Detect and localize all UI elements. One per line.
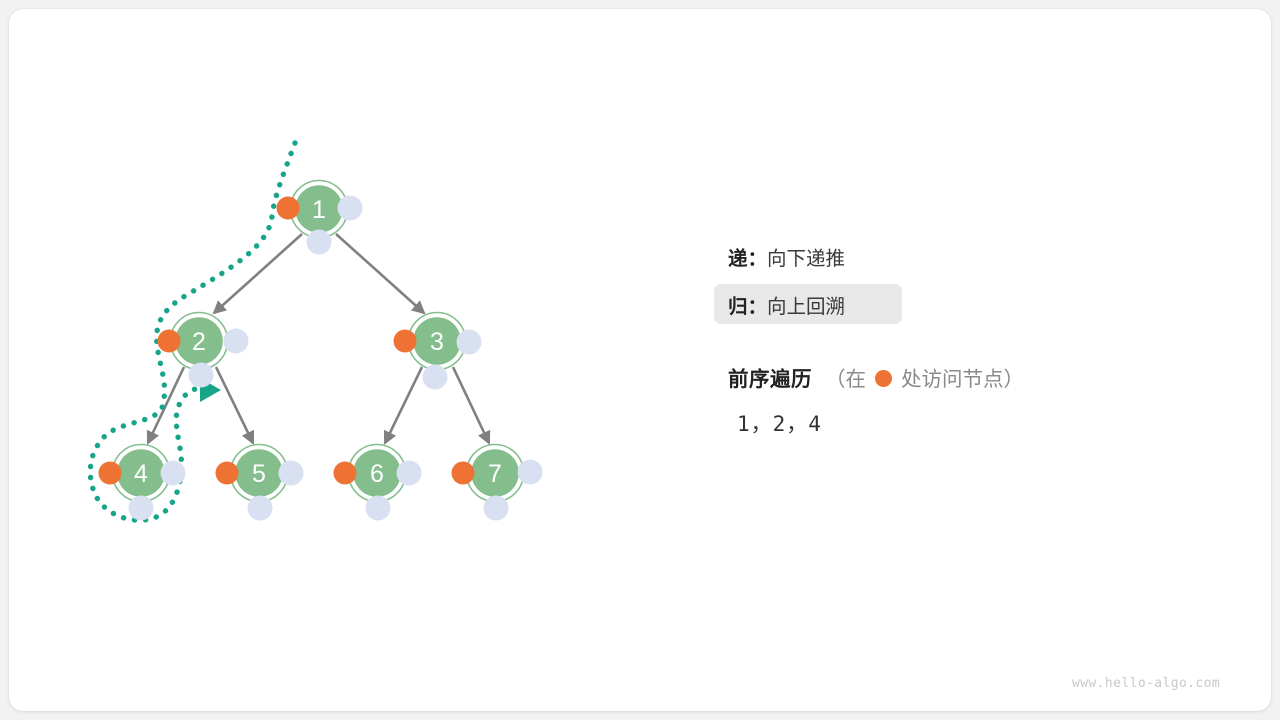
visit-dot-left — [452, 462, 475, 485]
visit-dot-left — [334, 462, 357, 485]
node-label: 3 — [430, 328, 444, 356]
pending-dot-bottom — [248, 496, 273, 521]
pending-dot-bottom — [423, 365, 448, 390]
pending-dot-right — [457, 330, 482, 355]
tree-node-1[interactable]: 1 — [277, 181, 363, 255]
legend-key-recurse: 递： — [728, 242, 767, 271]
traversal-note-suffix: 处访问节点） — [901, 362, 1024, 392]
visit-dot-left — [216, 462, 239, 485]
pending-dot-bottom — [307, 230, 332, 255]
node-label: 6 — [370, 460, 384, 488]
node-label: 4 — [134, 460, 148, 488]
pending-dot-right — [224, 329, 249, 354]
pending-dot-right — [338, 196, 363, 221]
tree-node-4[interactable]: 4 — [99, 445, 186, 521]
visit-dot-left — [158, 330, 181, 353]
legend-row-recurse: 递： 向下递推 — [728, 236, 1208, 276]
legend-value-backtrack: 向上回溯 — [767, 290, 845, 319]
visit-dot-left — [394, 330, 417, 353]
node-label: 2 — [192, 328, 206, 356]
node-label: 1 — [312, 196, 326, 224]
edge-3-6 — [385, 367, 422, 443]
site-watermark: www.hello-algo.com — [1072, 676, 1220, 691]
pending-dot-right — [518, 460, 543, 485]
edge-3-7 — [453, 367, 489, 443]
legend-value-recurse: 向下递推 — [767, 242, 845, 271]
pending-dot-bottom — [189, 363, 214, 388]
tree-nodes: 1 2 3 — [99, 181, 543, 521]
traversal-name: 前序遍历 — [728, 362, 812, 392]
edge-1-3 — [336, 234, 424, 313]
tree-node-3[interactable]: 3 — [394, 313, 482, 390]
legend-row-backtrack: 归： 向上回溯 — [714, 284, 902, 324]
tree-node-7[interactable]: 7 — [452, 445, 543, 521]
pending-dot-right — [161, 461, 186, 486]
pending-dot-right — [279, 461, 304, 486]
tree-node-6[interactable]: 6 — [334, 445, 422, 521]
pending-dot-bottom — [366, 496, 391, 521]
legend-key-backtrack: 归： — [728, 290, 767, 319]
node-label: 7 — [488, 460, 502, 488]
tree-node-5[interactable]: 5 — [216, 445, 304, 521]
binary-tree-diagram: 1 2 3 — [0, 0, 1280, 720]
traversal-note-prefix: （在 — [825, 362, 866, 392]
node-label: 5 — [252, 460, 266, 488]
screenshot-stage: 1 2 3 — [0, 0, 1280, 720]
visit-dot-left — [99, 462, 122, 485]
pending-dot-bottom — [129, 496, 154, 521]
edge-2-5 — [216, 367, 253, 443]
tree-node-2[interactable]: 2 — [158, 313, 249, 388]
visit-dot-left — [277, 197, 300, 220]
orange-dot-icon — [875, 370, 892, 387]
traversal-sequence: 1，2，4 — [737, 408, 822, 438]
pending-dot-bottom — [484, 496, 509, 521]
pending-dot-right — [397, 461, 422, 486]
legend-block: 递： 向下递推 归： 向上回溯 — [728, 236, 1208, 324]
traversal-title: 前序遍历 （在 处访问节点） — [728, 362, 1024, 392]
